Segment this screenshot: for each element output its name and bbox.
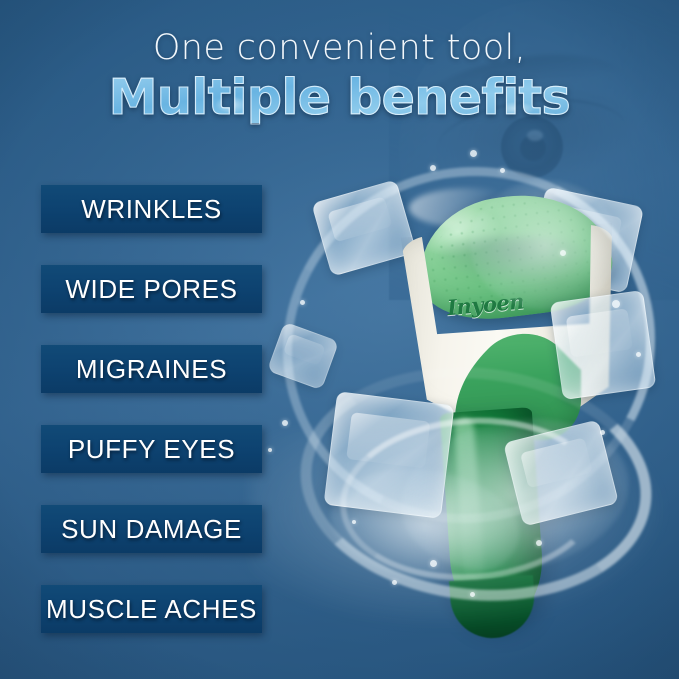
benefit-item-sun-damage: SUN DAMAGE <box>41 505 262 553</box>
benefit-item-migraines: MIGRAINES <box>41 345 262 393</box>
benefit-label: PUFFY EYES <box>68 434 235 465</box>
ice-cube <box>323 391 454 519</box>
promo-image: Inyoen One convenient tool, <box>0 0 679 679</box>
benefit-label: WRINKLES <box>81 194 222 225</box>
benefit-label: SUN DAMAGE <box>61 514 242 545</box>
benefit-label: MIGRAINES <box>76 354 227 385</box>
benefit-item-wrinkles: WRINKLES <box>41 185 262 233</box>
headline: One convenient tool, Multiple benefits <box>0 28 679 123</box>
headline-line-2: Multiple benefits <box>0 72 679 123</box>
ice-cube <box>550 290 657 400</box>
headline-line-1: One convenient tool, <box>0 28 679 68</box>
benefit-item-muscle-aches: MUSCLE ACHES <box>41 585 262 633</box>
benefits-list: WRINKLES WIDE PORES MIGRAINES PUFFY EYES… <box>41 185 262 633</box>
roller-highlight <box>409 188 529 228</box>
benefit-label: WIDE PORES <box>65 274 237 305</box>
benefit-item-puffy-eyes: PUFFY EYES <box>41 425 262 473</box>
benefit-label: MUSCLE ACHES <box>46 594 257 625</box>
benefit-item-wide-pores: WIDE PORES <box>41 265 262 313</box>
roller-body-shadow <box>435 236 593 282</box>
